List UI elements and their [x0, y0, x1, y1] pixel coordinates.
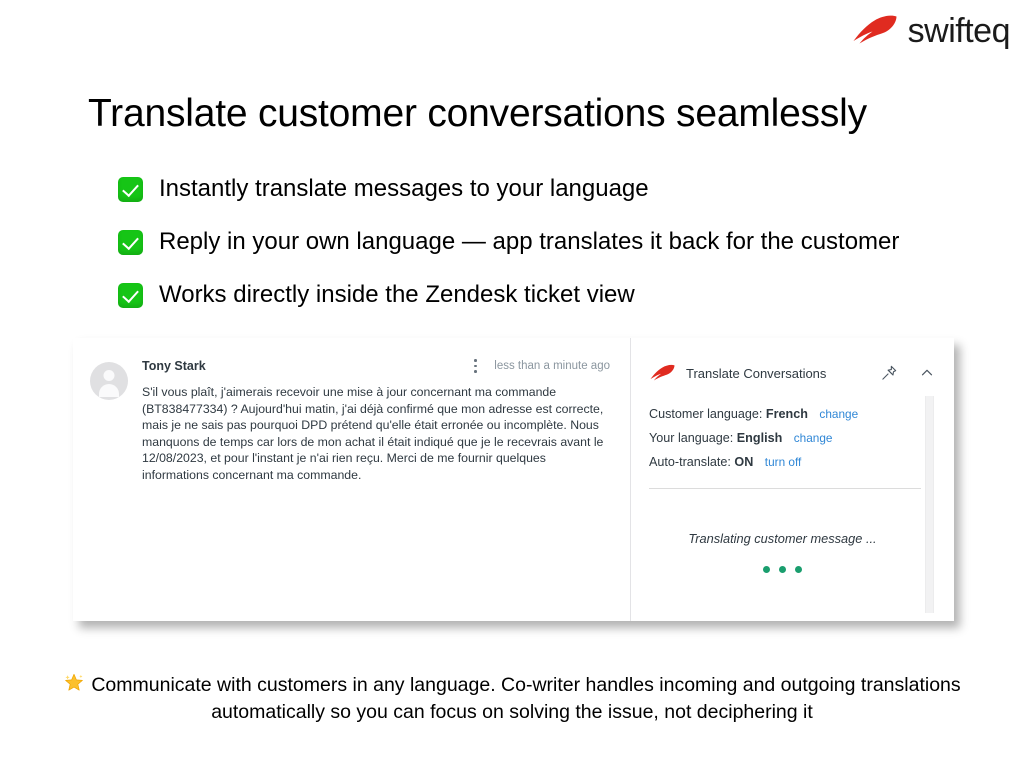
ticket-header-actions: less than a minute ago	[468, 358, 610, 374]
feature-list: Instantly translate messages to your lan…	[118, 174, 899, 333]
ticket-timestamp: less than a minute ago	[494, 360, 610, 372]
check-mark-button-icon	[118, 283, 143, 308]
setting-auto-translate: Auto-translate: ON turn off	[649, 450, 936, 474]
product-screenshot-card: Tony Stark less than a minute ago S'il v…	[73, 338, 954, 621]
setting-label: Your language:	[649, 431, 733, 445]
list-item: Works directly inside the Zendesk ticket…	[118, 280, 899, 312]
page-title: Translate customer conversations seamles…	[88, 92, 867, 136]
setting-customer-language: Customer language: French change	[649, 402, 936, 426]
setting-value: French	[766, 407, 808, 421]
glowing-star-icon	[63, 672, 85, 694]
ticket-author-name: Tony Stark	[142, 359, 206, 373]
change-your-language-link[interactable]: change	[794, 431, 833, 445]
check-mark-button-icon	[118, 230, 143, 255]
pin-icon[interactable]	[880, 364, 898, 382]
loading-dots-indicator	[649, 566, 936, 573]
setting-your-language: Your language: English change	[649, 426, 936, 450]
swifteq-comet-logo-icon	[852, 14, 898, 48]
ticket-comment-header: Tony Stark less than a minute ago	[142, 356, 610, 376]
change-customer-language-link[interactable]: change	[819, 407, 858, 421]
setting-label: Customer language:	[649, 407, 762, 421]
setting-label: Auto-translate:	[649, 455, 731, 469]
panel-header-actions	[880, 364, 936, 382]
list-item-label: Works directly inside the Zendesk ticket…	[159, 280, 635, 309]
setting-value: English	[737, 431, 782, 445]
avatar	[90, 362, 128, 400]
footer-text: Communicate with customers in any langua…	[91, 674, 960, 723]
panel-title: Translate Conversations	[686, 366, 826, 381]
footer-caption: Communicate with customers in any langua…	[0, 672, 1024, 726]
translation-status-text: Translating customer message ...	[649, 531, 936, 546]
list-item: Reply in your own language — app transla…	[118, 227, 899, 259]
setting-value: ON	[734, 455, 753, 469]
kebab-menu-icon[interactable]	[468, 358, 482, 374]
list-item-label: Instantly translate messages to your lan…	[159, 174, 649, 203]
brand-name: swifteq	[908, 14, 1010, 48]
translate-conversations-panel: Translate Conversations	[631, 338, 954, 621]
panel-scrollbar[interactable]	[925, 396, 934, 613]
list-item: Instantly translate messages to your lan…	[118, 174, 899, 206]
zendesk-ticket-comment: Tony Stark less than a minute ago S'il v…	[73, 338, 631, 621]
ticket-comment-body: Tony Stark less than a minute ago S'il v…	[142, 356, 610, 621]
chevron-up-icon[interactable]	[918, 364, 936, 382]
turn-off-auto-translate-link[interactable]: turn off	[765, 455, 802, 469]
panel-content: Customer language: French change Your la…	[631, 390, 954, 621]
divider	[649, 488, 921, 489]
panel-header: Translate Conversations	[631, 338, 954, 390]
list-item-label: Reply in your own language — app transla…	[159, 227, 899, 256]
swifteq-comet-logo-icon	[649, 364, 676, 383]
ticket-message-text: S'il vous plaît, j'aimerais recevoir une…	[142, 384, 610, 483]
slide: swifteq Translate customer conversations…	[0, 0, 1024, 768]
brand-logo: swifteq	[852, 14, 1010, 48]
check-mark-button-icon	[118, 177, 143, 202]
